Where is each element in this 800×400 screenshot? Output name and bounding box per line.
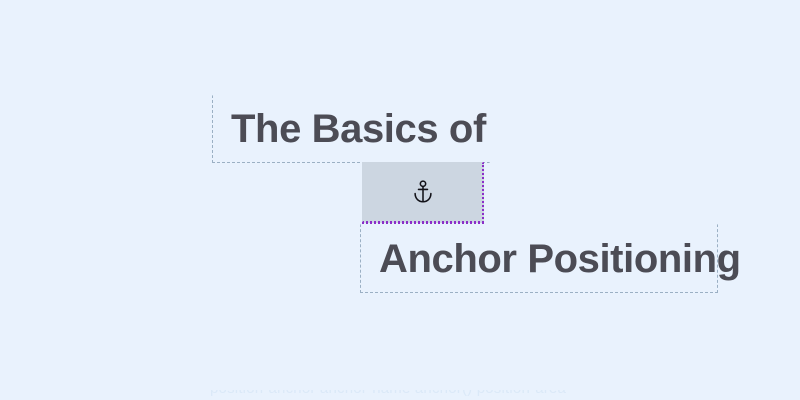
title-line-one-box: The Basics of [212, 95, 490, 163]
title-line-two-box: Anchor Positioning [360, 224, 718, 293]
title-line-one-text: The Basics of [213, 109, 486, 149]
slide-canvas: The Basics of Anchor Positioning positio… [0, 0, 800, 400]
anchor-element-box[interactable] [362, 162, 484, 223]
title-line-two-text: Anchor Positioning [361, 239, 741, 279]
footer-clipped-text: position-anchor anchor-name anchor() pos… [210, 390, 566, 396]
footer-clipped-strip: position-anchor anchor-name anchor() pos… [0, 390, 800, 400]
anchor-icon [412, 180, 434, 204]
